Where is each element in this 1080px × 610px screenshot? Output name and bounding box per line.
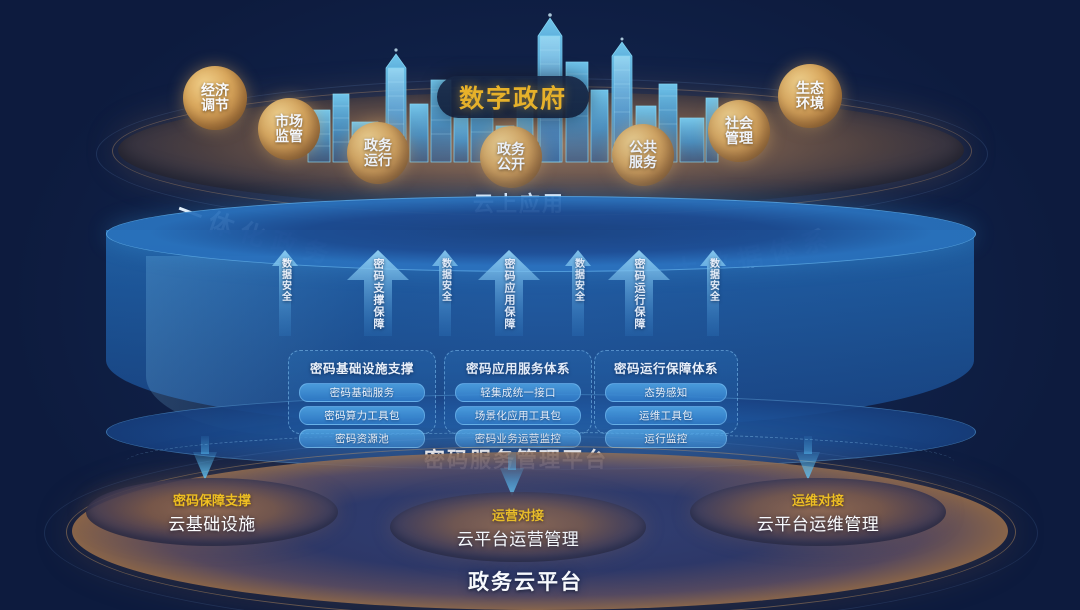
sphere-government-openness[interactable]: 政务 公开 [480, 126, 542, 188]
panel-crypto-operation-assurance[interactable]: 密码运行保障体系 态势感知 运维工具包 运行监控 [594, 350, 738, 434]
panel-crypto-application-service[interactable]: 密码应用服务体系 轻集成统一接口 场景化应用工具包 密码业务运营监控 [444, 350, 592, 434]
arrow-crypto-application-support: 密码应用保障 [478, 250, 540, 336]
base-node-subtitle: 运维对接 [792, 490, 844, 509]
panel-item[interactable]: 场景化应用工具包 [455, 406, 581, 425]
arrow-label: 数据安全 [278, 258, 293, 302]
panel-item[interactable]: 轻集成统一接口 [455, 383, 581, 402]
arrow-label: 数据安全 [438, 258, 453, 302]
arrow-data-security-4: 数据安全 [700, 250, 726, 336]
arrow-label: 密码运行保障 [631, 258, 647, 330]
infographic-canvas: 数字政府 经济 调节 市场 监管 政务 运行 政务 公开 公共 服务 社会 管理… [0, 0, 1080, 610]
layer-label-government-cloud-platform: 政务云平台 [468, 566, 583, 596]
panel-item[interactable]: 密码算力工具包 [299, 406, 425, 425]
sphere-label-line1: 政务 [497, 142, 525, 157]
sphere-label-line2: 环境 [796, 96, 824, 111]
base-node-subtitle: 运营对接 [492, 505, 544, 524]
sphere-ecological-environment[interactable]: 生态 环境 [778, 64, 842, 128]
center-title-text: 数字政府 [459, 79, 567, 115]
sphere-label-line1: 经济 [201, 83, 229, 98]
sphere-label-line2: 运行 [364, 153, 392, 168]
panel-title: 密码应用服务体系 [455, 358, 581, 377]
base-node-title: 云基础设施 [168, 510, 256, 535]
arrow-crypto-infrastructure-support: 密码支撑保障 [347, 250, 409, 336]
panel-crypto-infrastructure[interactable]: 密码基础设施支撑 密码基础服务 密码算力工具包 密码资源池 [288, 350, 436, 434]
center-title-badge: 数字政府 [437, 76, 589, 118]
base-node-cloud-infrastructure[interactable]: 密码保障支撑 云基础设施 [86, 478, 338, 546]
sphere-label-line2: 调节 [201, 98, 229, 113]
sphere-label-line1: 社会 [725, 116, 753, 131]
base-node-title: 云平台运维管理 [757, 510, 880, 535]
sphere-label-line2: 管理 [725, 131, 753, 146]
sphere-market-supervision[interactable]: 市场 监管 [258, 98, 320, 160]
sphere-label-line2: 服务 [629, 155, 657, 170]
sphere-public-service[interactable]: 公共 服务 [612, 124, 674, 186]
arrow-label: 数据安全 [706, 258, 721, 302]
base-node-cloud-operation-management[interactable]: 运营对接 云平台运营管理 [390, 492, 646, 562]
panel-item[interactable]: 运维工具包 [605, 406, 727, 425]
base-node-cloud-ops-management[interactable]: 运维对接 云平台运维管理 [690, 478, 946, 546]
arrow-data-security-2: 数据安全 [432, 250, 458, 336]
arrow-label: 数据安全 [571, 258, 586, 302]
base-node-title: 云平台运营管理 [457, 525, 580, 550]
sphere-social-management[interactable]: 社会 管理 [708, 100, 770, 162]
sphere-label-line1: 生态 [796, 81, 824, 96]
panel-title: 密码基础设施支撑 [299, 358, 425, 377]
panel-item[interactable]: 态势感知 [605, 383, 727, 402]
sphere-label-line1: 市场 [275, 114, 303, 129]
arrow-crypto-operation-support: 密码运行保障 [608, 250, 670, 336]
arrow-data-security-1: 数据安全 [272, 250, 298, 336]
drum-top-ellipse [106, 196, 976, 272]
arrow-label: 密码支撑保障 [370, 258, 386, 330]
arrow-data-security-3: 数据安全 [565, 250, 591, 336]
arrow-label: 密码应用保障 [501, 258, 517, 330]
panel-item[interactable]: 密码基础服务 [299, 383, 425, 402]
sphere-label-line1: 公共 [629, 140, 657, 155]
sphere-government-operation[interactable]: 政务 运行 [347, 122, 409, 184]
sphere-label-line2: 公开 [497, 157, 525, 172]
base-node-subtitle: 密码保障支撑 [173, 490, 251, 509]
sphere-label-line2: 监管 [275, 129, 303, 144]
sphere-label-line1: 政务 [364, 138, 392, 153]
sphere-economic-regulation[interactable]: 经济 调节 [183, 66, 247, 130]
panel-title: 密码运行保障体系 [605, 358, 727, 377]
